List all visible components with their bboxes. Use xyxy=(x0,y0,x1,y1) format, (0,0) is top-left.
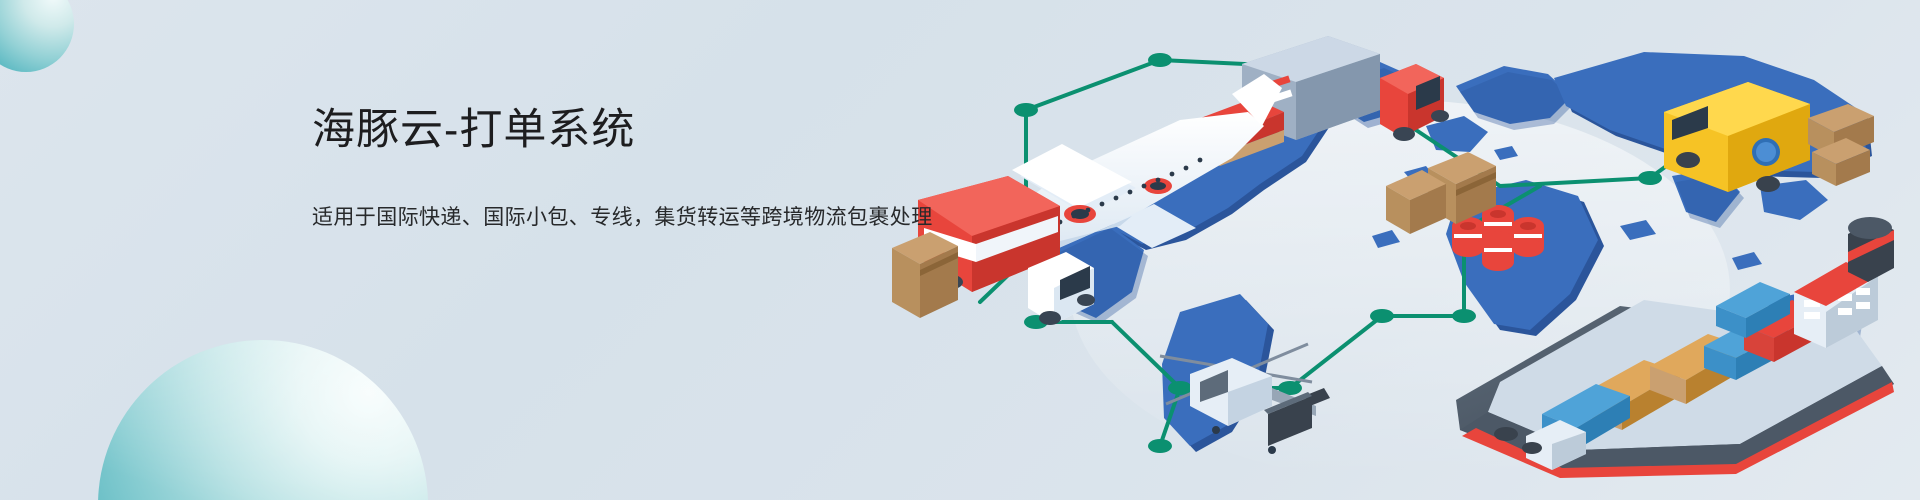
logistics-illustration xyxy=(860,0,1920,500)
page-subtitle: 适用于国际快递、国际小包、专线，集货转运等跨境物流包裹处理 xyxy=(312,201,933,231)
hero-banner: 海豚云-打单系统 适用于国际快递、国际小包、专线，集货转运等跨境物流包裹处理 xyxy=(0,0,1920,500)
page-title: 海豚云-打单系统 xyxy=(312,105,933,157)
decor-circle-bottom-left xyxy=(98,340,428,500)
decor-circle-top-left xyxy=(0,0,74,72)
hero-text-block: 海豚云-打单系统 适用于国际快递、国际小包、专线，集货转运等跨境物流包裹处理 xyxy=(312,105,933,231)
